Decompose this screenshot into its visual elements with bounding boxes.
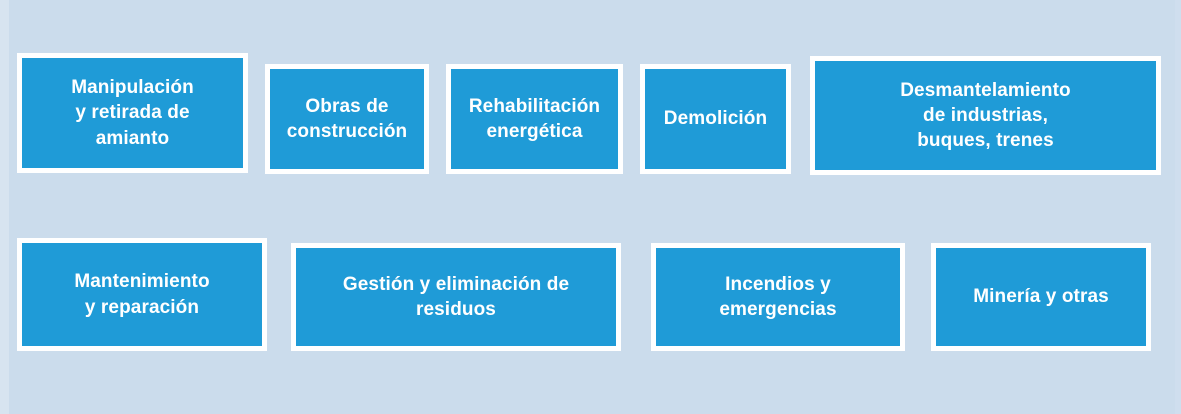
node-demolicion[interactable]: Demolición bbox=[640, 64, 791, 174]
node-label: Minería y otras bbox=[963, 284, 1119, 309]
node-mineria-y-otras[interactable]: Minería y otras bbox=[931, 243, 1151, 351]
node-label: Rehabilitación energética bbox=[459, 94, 610, 144]
node-label: Obras de construcción bbox=[277, 94, 418, 144]
node-label: Desmantelamiento de industrias, buques, … bbox=[890, 78, 1081, 153]
node-gestion-y-eliminacion-de-residuos[interactable]: Gestión y eliminación de residuos bbox=[291, 243, 621, 351]
node-rehabilitacion-energetica[interactable]: Rehabilitación energética bbox=[446, 64, 623, 174]
node-label: Mantenimiento y reparación bbox=[64, 269, 219, 319]
node-label: Gestión y eliminación de residuos bbox=[333, 272, 579, 322]
node-label: Manipulación y retirada de amianto bbox=[61, 75, 204, 150]
node-desmantelamiento-de-industrias-buques-trenes[interactable]: Desmantelamiento de industrias, buques, … bbox=[810, 56, 1161, 175]
left-edge-strip bbox=[0, 0, 9, 414]
node-label: Demolición bbox=[654, 106, 777, 131]
node-label: Incendios y emergencias bbox=[709, 272, 846, 322]
node-mantenimiento-y-reparacion[interactable]: Mantenimiento y reparación bbox=[17, 238, 267, 351]
diagram-canvas: Manipulación y retirada de amianto Obras… bbox=[0, 0, 1181, 414]
right-edge-strip bbox=[1175, 0, 1181, 414]
node-manipulacion-y-retirada-de-amianto[interactable]: Manipulación y retirada de amianto bbox=[17, 53, 248, 173]
node-incendios-y-emergencias[interactable]: Incendios y emergencias bbox=[651, 243, 905, 351]
node-obras-de-construccion[interactable]: Obras de construcción bbox=[265, 64, 429, 174]
